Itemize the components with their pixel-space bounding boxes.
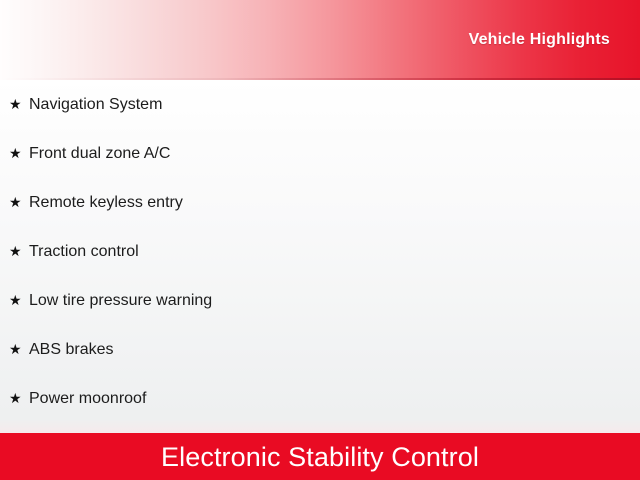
list-item: ★Front dual zone A/C	[0, 129, 640, 178]
list-item: ★Remote keyless entry	[0, 178, 640, 227]
list-item: ★ABS brakes	[0, 325, 640, 374]
list-item-label: Remote keyless entry	[29, 194, 183, 212]
list-item-label: ABS brakes	[29, 341, 113, 359]
list-item: ★Low tire pressure warning	[0, 276, 640, 325]
list-item-label: Power moonroof	[29, 390, 146, 408]
vehicle-highlights-slide: Vehicle Highlights ★Navigation System★Fr…	[0, 0, 640, 480]
star-bullet-icon: ★	[9, 195, 29, 209]
list-item-label: Navigation System	[29, 96, 162, 114]
list-item-label: Traction control	[29, 243, 139, 261]
star-bullet-icon: ★	[9, 146, 29, 160]
content-area: ★Navigation System★Front dual zone A/C★R…	[0, 80, 640, 433]
page-title: Vehicle Highlights	[469, 31, 610, 49]
footer-banner: Electronic Stability Control	[0, 433, 640, 480]
star-bullet-icon: ★	[9, 244, 29, 258]
list-item-label: Front dual zone A/C	[29, 145, 170, 163]
star-bullet-icon: ★	[9, 97, 29, 111]
star-bullet-icon: ★	[9, 293, 29, 307]
list-item: ★Power moonroof	[0, 374, 640, 423]
star-bullet-icon: ★	[9, 391, 29, 405]
list-item-label: Low tire pressure warning	[29, 292, 212, 310]
star-bullet-icon: ★	[9, 342, 29, 356]
footer-title: Electronic Stability Control	[161, 442, 479, 472]
list-item: ★Traction control	[0, 227, 640, 276]
vehicle-highlights-list: ★Navigation System★Front dual zone A/C★R…	[0, 80, 640, 423]
list-item: ★Navigation System	[0, 80, 640, 129]
